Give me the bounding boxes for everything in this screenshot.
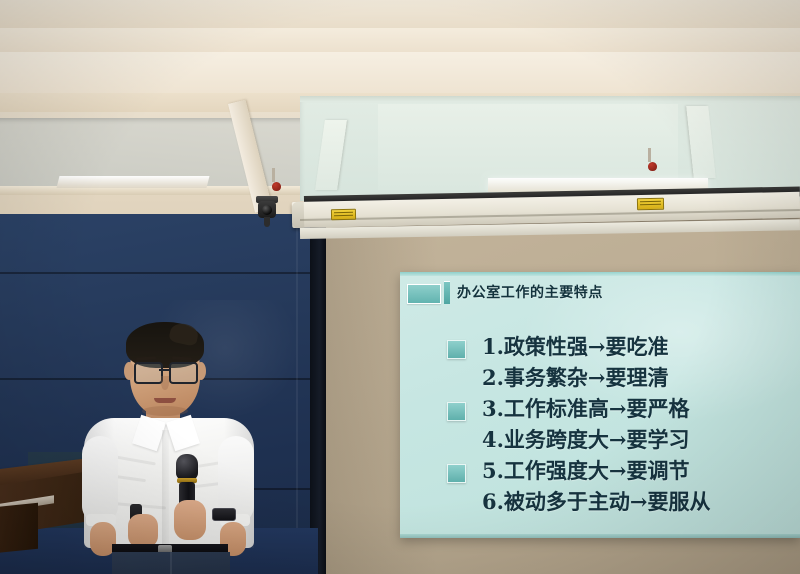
screen-housing-end-cap [292,202,305,228]
ceiling-coffer-right-edge [300,96,800,102]
ceiling-panel-band [0,28,800,54]
sprinkler-stem [648,148,651,162]
slide-title: 办公室工作的主要特点 [457,282,787,302]
ceiling-panel-band [0,52,800,96]
screen-bottom-edge [400,534,800,538]
ceiling-panel-band [0,0,800,30]
projection-screen: 办公室工作的主要特点 1.政策性强→要吃准 2.事务繁杂→要理清 3.工作标准高… [400,272,800,538]
camera-stem [264,217,270,227]
trouser-crease [170,552,172,574]
slide-bullet-marker [447,464,466,483]
sprinkler-icon [272,168,281,191]
presenter-nose [161,376,169,390]
presenter-mouth [154,398,176,403]
lecture-hall-photo: 办公室工作的主要特点 1.政策性强→要吃准 2.事务繁杂→要理清 3.工作标准高… [0,0,800,574]
presenter-ear [124,362,134,380]
glasses-icon [134,362,163,384]
slide-title-accent-bar [444,281,450,304]
glasses-bridge [159,369,169,371]
warning-label-icon [331,209,356,220]
presenter-chin-shadow [142,406,188,416]
presenter-arm [82,436,118,524]
slide-bullet-line: 6.被动多于主动→要服从 [482,485,792,519]
sprinkler-icon [648,148,657,171]
sprinkler-head [272,182,281,191]
wristwatch-icon [212,508,236,521]
microphone-icon [176,454,198,480]
slide-bullet-line: 5.工作强度大→要调节 [482,454,792,488]
podium-side [0,503,38,554]
slide-bullet-line: 1.政策性强→要吃准 [482,330,792,364]
presenter [78,318,258,574]
wall-dark-column [310,214,326,574]
wall-panel-seam [0,272,322,274]
ceiling-light-icon [57,176,210,188]
sprinkler-stem [272,168,275,182]
presenter-hand [174,500,206,540]
slide-bullet-marker [447,340,466,359]
slide-bullet-marker [447,402,466,421]
glasses-icon [169,362,198,384]
slide-bullet-line: 4.业务跨度大→要学习 [482,423,792,457]
sprinkler-head [648,162,657,171]
slide-bullet-line: 2.事务繁杂→要理清 [482,361,792,395]
slide-title-accent-block [407,284,441,304]
camera-lens-icon [262,205,272,215]
shirt-placket [162,430,169,548]
warning-label-icon [637,198,664,211]
slide-bullet-line: 3.工作标准高→要严格 [482,392,792,426]
presenter-hand [128,514,158,548]
